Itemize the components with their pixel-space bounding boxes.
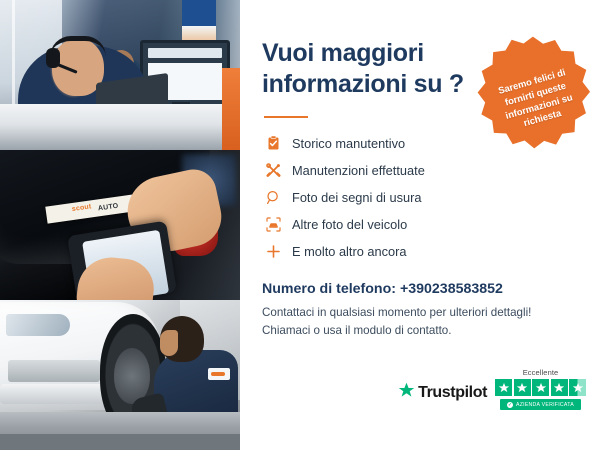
title-underline-divider (264, 116, 308, 118)
rating-star (495, 379, 512, 396)
verified-badge-label: AZIENDA VERIFICATA (516, 402, 574, 408)
phone-label: Numero di telefono: (262, 281, 396, 297)
verified-company-badge: ✓ AZIENDA VERIFICATA (500, 399, 581, 410)
car-headlight (6, 314, 70, 336)
sticker-suffix: scout (71, 203, 91, 213)
promo-banner: AUTOscout Vuoi maggiori informazioni su … (0, 0, 600, 450)
rating-star (532, 379, 549, 396)
trustpilot-logo: Trustpilot (398, 382, 487, 410)
trustpilot-rating-word: Eccellente (523, 368, 559, 377)
phone-number[interactable]: +390238583852 (400, 281, 503, 297)
rating-star (514, 379, 531, 396)
rating-star-half (569, 379, 586, 396)
clipboard-check-icon (262, 135, 284, 153)
car-scan-icon (262, 216, 284, 234)
mechanic-face (160, 330, 178, 356)
page-title: Vuoi maggiori informazioni su ? (262, 38, 472, 99)
photo-wheel-inspection (0, 300, 240, 450)
feature-label: E molto altro ancora (292, 244, 407, 259)
photo-call-center (0, 0, 240, 150)
sticker-prefix: AUTO (98, 203, 119, 213)
phone-line: Numero di telefono: +390238583852 (262, 281, 578, 297)
feature-label: Storico manutentivo (292, 136, 405, 151)
rating-star (551, 379, 568, 396)
trustpilot-brand-name: Trustpilot (418, 384, 487, 402)
check-circle-icon: ✓ (507, 402, 513, 408)
trustpilot-star-rating (495, 379, 586, 396)
callout-badge: Saremo felici di fornirti queste informa… (471, 31, 600, 161)
feature-item-more: E molto altro ancora (262, 238, 578, 265)
photo-column: AUTOscout (0, 0, 240, 450)
desk-surface (0, 104, 240, 150)
contact-subtext-line-2: Chiamaci o usa il modulo di contatto. (262, 322, 578, 340)
magnifier-icon (262, 189, 284, 207)
content-panel: Vuoi maggiori informazioni su ? Storico … (240, 0, 600, 450)
trustpilot-star-icon (398, 382, 415, 404)
trustpilot-rating: Eccellente (495, 368, 586, 410)
photo-label-application: AUTOscout (0, 150, 240, 300)
plus-icon (262, 243, 284, 261)
feature-item-vehicle-photos: Altre foto del veicolo (262, 211, 578, 238)
uniform-logo-patch (208, 368, 230, 380)
contact-subtext-line-1: Contattaci in qualsiasi momento per ulte… (262, 304, 578, 322)
car-grille (8, 360, 100, 382)
feature-label: Manutenzioni effettuate (292, 163, 425, 178)
workshop-floor (0, 434, 240, 450)
feature-label: Altre foto del veicolo (292, 217, 407, 232)
feature-label: Foto dei segni di usura (292, 190, 421, 205)
tools-cross-icon (262, 162, 284, 180)
orange-panel-edge (222, 68, 240, 150)
trustpilot-widget[interactable]: Trustpilot Eccellente (398, 368, 586, 410)
badge-text: Saremo felici di fornirti queste informa… (486, 63, 588, 137)
feature-item-wear-photos: Foto dei segni di usura (262, 184, 578, 211)
